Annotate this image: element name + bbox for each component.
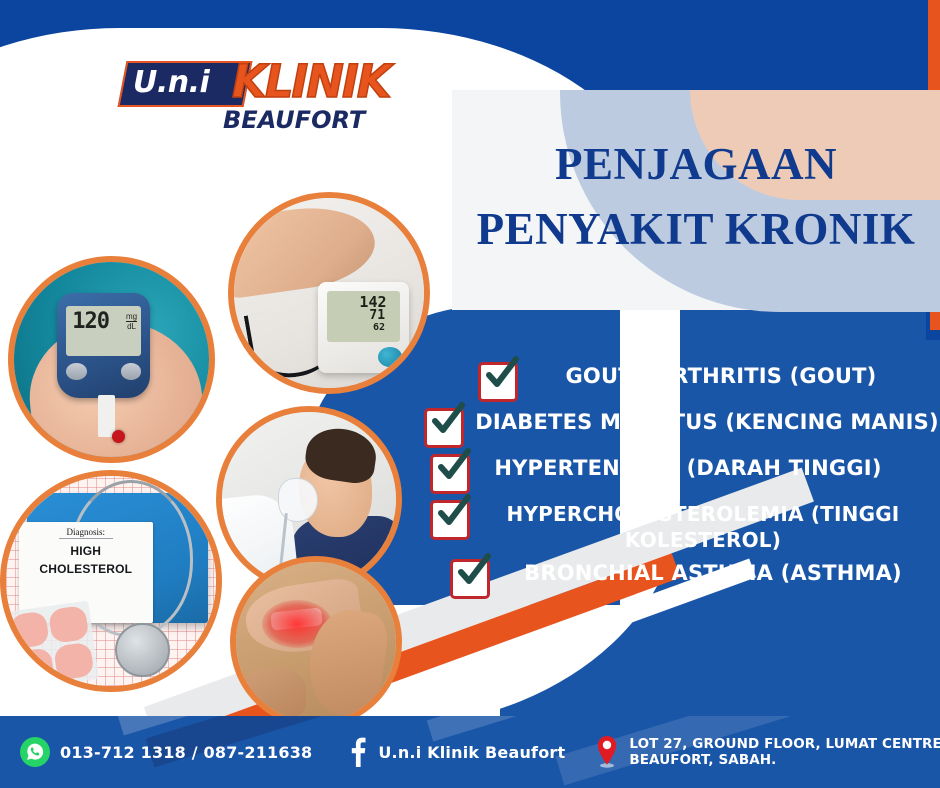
pill — [49, 605, 90, 644]
address-line-2: BEAUFORT, SABAH. — [629, 752, 776, 768]
checkbox-checked-icon[interactable] — [450, 559, 490, 599]
whatsapp-icon[interactable] — [20, 737, 50, 767]
checkbox-checked-icon[interactable] — [430, 500, 470, 540]
glucometer-photo-background: 120 mg dL — [14, 262, 209, 457]
bp-diastolic-value: 71 — [369, 308, 385, 323]
page-title: PENJAGAAN PENYAKIT KRONIK — [452, 132, 940, 263]
checklist-item-label: DIABETES MELLITUS (KENCING MANIS) — [464, 406, 940, 435]
facebook-icon[interactable] — [346, 738, 368, 766]
checklist-item-label: GOUTY ARTHRITIS (GOUT) — [518, 360, 918, 389]
glucometer-screen: 120 mg dL — [66, 306, 141, 357]
checklist-item[interactable]: GOUTY ARTHRITIS (GOUT) — [478, 360, 918, 402]
checkbox-checked-icon[interactable] — [424, 408, 464, 448]
bp-device: 142 71 62 — [318, 282, 409, 373]
contact-phone[interactable]: 013-712 1318 / 087-211638 — [20, 737, 312, 767]
bp-screen: 142 71 62 — [327, 291, 400, 342]
phone-number-text: 013-712 1318 / 087-211638 — [60, 743, 312, 762]
bp-start-button — [378, 347, 402, 367]
gout-foot-pain-photo — [230, 556, 402, 728]
diagnosis-value-line2: CHOLESTEROL — [19, 563, 153, 576]
stethoscope-chestpiece — [115, 623, 169, 677]
checklist-item-label: HYPERTENSION (DARAH TINGGI) — [470, 452, 900, 481]
contact-facebook[interactable]: U.n.i Klinik Beaufort — [346, 738, 565, 766]
high-cholesterol-folder-photo: Diagnosis: HIGH CHOLESTEROL — [0, 470, 222, 692]
blood-drop — [112, 430, 125, 443]
checklist-item-label: HYPERCHOLESTEROLEMIA (TINGGI KOLESTEROL) — [470, 498, 930, 553]
glucometer-unit-denominator: dL — [126, 321, 137, 331]
glucometer-unit: mg dL — [126, 312, 137, 331]
logo-beaufort-text: BEAUFORT — [223, 106, 365, 134]
glucometer-photo: 120 mg dL — [8, 256, 215, 463]
contact-row: 013-712 1318 / 087-211638 U.n.i Klinik B… — [0, 716, 940, 788]
checklist-item[interactable]: HYPERCHOLESTEROLEMIA (TINGGI KOLESTEROL) — [430, 498, 930, 553]
logo-klinik-text: KLINIK — [232, 56, 390, 108]
checklist-item[interactable]: HYPERTENSION (DARAH TINGGI) — [430, 452, 900, 494]
clinic-poster: PENJAGAAN PENYAKIT KRONIK U.n.i KLINIK B… — [0, 0, 940, 788]
other-foot — [242, 668, 306, 719]
contact-address[interactable]: LOT 27, GROUND FLOOR, LUMAT CENTRE 2 BEA… — [595, 736, 940, 768]
glucometer-device: 120 mg dL — [57, 293, 151, 398]
checklist-item[interactable]: BRONCHIAL ASTHMA (ASTHMA) — [450, 557, 930, 599]
address-line-1: LOT 27, GROUND FLOOR, LUMAT CENTRE 2 — [629, 736, 940, 752]
pill — [10, 611, 51, 650]
glucometer-reading: 120 — [72, 309, 109, 334]
checkbox-checked-icon[interactable] — [478, 362, 518, 402]
gout-photo-background — [236, 562, 396, 722]
checklist-item-label: BRONCHIAL ASTHMA (ASTHMA) — [490, 557, 930, 586]
glucometer-button-right — [121, 363, 142, 380]
contact-footer: 013-712 1318 / 087-211638 U.n.i Klinik B… — [0, 716, 940, 788]
page-title-line1: PENJAGAAN — [452, 132, 940, 197]
page-title-line2: PENYAKIT KRONIK — [452, 197, 940, 262]
clinic-logo: U.n.i KLINIK BEAUFORT — [122, 58, 392, 148]
glucometer-button-left — [66, 363, 87, 380]
pill-blister-pack — [5, 601, 99, 691]
facebook-page-text: U.n.i Klinik Beaufort — [378, 743, 565, 762]
blood-pressure-monitor-photo: 142 71 62 — [228, 192, 430, 394]
bp-pulse-value: 62 — [373, 322, 385, 333]
glucometer-test-strip — [98, 395, 116, 438]
cholesterol-photo-background: Diagnosis: HIGH CHOLESTEROL — [6, 476, 216, 686]
checkbox-checked-icon[interactable] — [430, 454, 470, 494]
glucometer-unit-numerator: mg — [126, 312, 137, 321]
diagnosis-caption: Diagnosis: — [59, 527, 114, 539]
conditions-checklist: GOUTY ARTHRITIS (GOUT) DIABETES MELLITUS… — [420, 360, 940, 603]
pill — [15, 648, 56, 687]
checklist-item[interactable]: DIABETES MELLITUS (KENCING MANIS) — [424, 406, 940, 448]
location-pin-icon — [595, 736, 619, 768]
diagnosis-value-line1: HIGH — [19, 545, 153, 558]
address-text: LOT 27, GROUND FLOOR, LUMAT CENTRE 2 BEA… — [629, 736, 940, 768]
pill — [54, 642, 95, 681]
bp-photo-background: 142 71 62 — [234, 198, 424, 388]
